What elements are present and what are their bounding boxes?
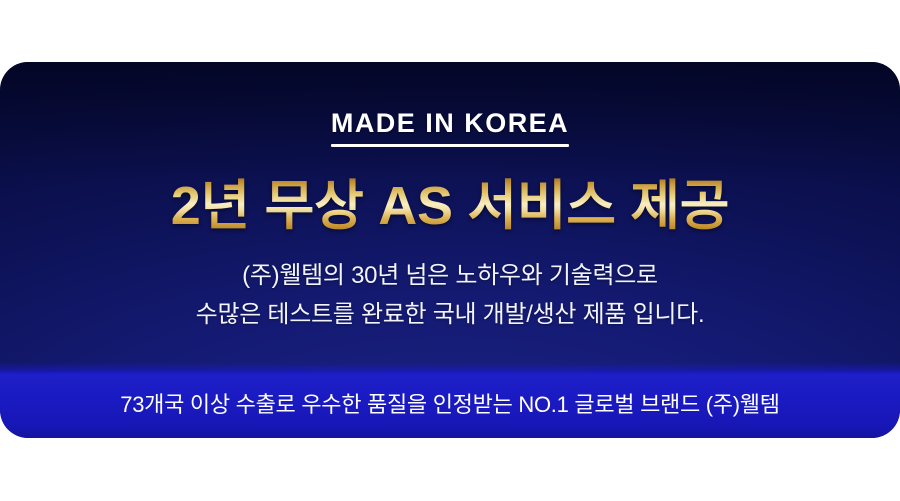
bottom-banner-text: 73개국 이상 수출로 우수한 품질을 인정받는 NO.1 글로벌 브랜드 (주…	[120, 394, 779, 416]
subtitle-block: (주)웰템의 30년 넘은 노하우와 기술력으로 수많은 테스트를 완료한 국내…	[196, 257, 705, 335]
subtitle-line-2: 수많은 테스트를 완료한 국내 개발/생산 제품 입니다.	[196, 296, 705, 335]
bottom-banner: 73개국 이상 수출로 우수한 품질을 인정받는 NO.1 글로벌 브랜드 (주…	[0, 372, 900, 438]
made-in-korea-label: MADE IN KOREA	[331, 110, 569, 137]
made-in-korea-underline	[331, 144, 569, 147]
card-content: MADE IN KOREA 2년 무상 AS 서비스 제공 (주)웰템의 30년…	[0, 62, 900, 372]
made-in-korea-badge: MADE IN KOREA	[331, 110, 569, 147]
subtitle-line-1: (주)웰템의 30년 넘은 노하우와 기술력으로	[196, 257, 705, 296]
promo-card: MADE IN KOREA 2년 무상 AS 서비스 제공 (주)웰템의 30년…	[0, 62, 900, 438]
headline-gold-text: 2년 무상 AS 서비스 제공	[171, 178, 729, 234]
